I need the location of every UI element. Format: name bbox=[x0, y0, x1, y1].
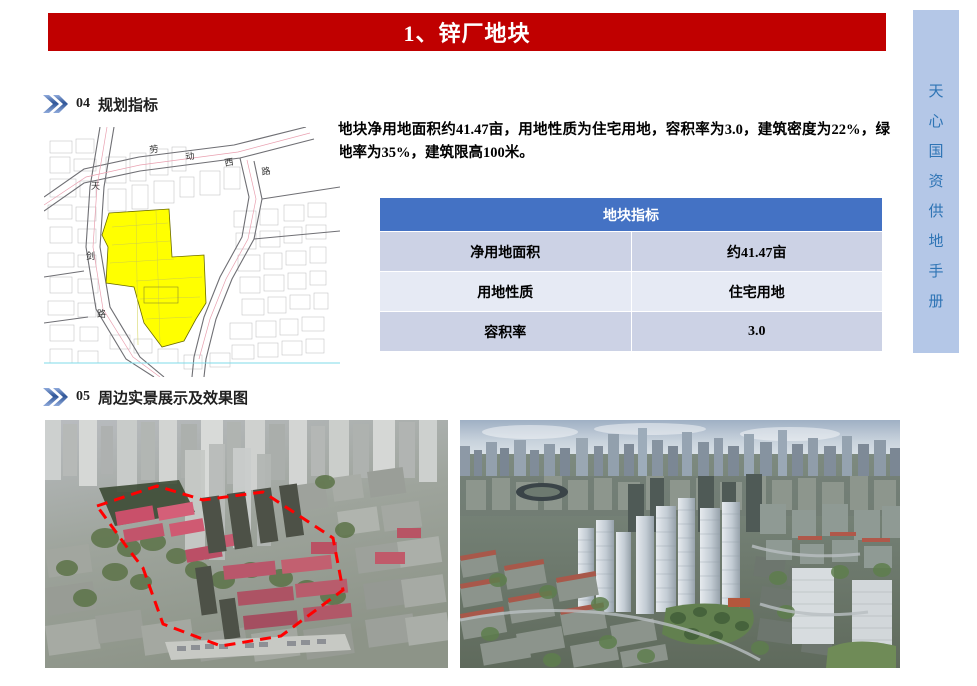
section-heading-05: 05 周边实景展示及效果图 bbox=[42, 386, 248, 408]
side-tab-char: 手 bbox=[928, 257, 943, 287]
aerial-photo-site bbox=[45, 420, 448, 668]
side-tab-char: 册 bbox=[928, 287, 943, 317]
side-tab-handbook[interactable]: 天 心 国 资 供 地 手 册 bbox=[913, 10, 959, 353]
svg-text:动: 动 bbox=[185, 151, 195, 162]
side-tab-char: 供 bbox=[928, 197, 943, 227]
table-row: 用地性质 住宅用地 bbox=[380, 272, 883, 312]
side-tab-char: 国 bbox=[928, 137, 943, 167]
table-header-row: 地块指标 bbox=[380, 198, 883, 232]
section-heading-04: 04 规划指标 bbox=[42, 93, 158, 115]
page-title-banner: 1、锌厂地块 bbox=[48, 13, 886, 51]
table-cell-label: 容积率 bbox=[380, 312, 632, 352]
pavilion-roof bbox=[728, 598, 750, 607]
double-chevron-icon bbox=[42, 93, 68, 115]
svg-text:西: 西 bbox=[224, 157, 234, 168]
svg-text:劳: 劳 bbox=[149, 143, 160, 155]
svg-text:天: 天 bbox=[91, 181, 100, 191]
svg-text:路: 路 bbox=[261, 165, 272, 177]
section-number: 05 bbox=[76, 389, 90, 405]
table-cell-value: 3.0 bbox=[631, 312, 883, 352]
table-cell-label: 净用地面积 bbox=[380, 232, 632, 272]
table-row: 容积率 3.0 bbox=[380, 312, 883, 352]
side-tab-char: 地 bbox=[928, 227, 943, 257]
section-title: 周边实景展示及效果图 bbox=[98, 387, 248, 408]
double-chevron-icon bbox=[42, 386, 68, 408]
green-space bbox=[826, 641, 896, 668]
table-row: 净用地面积 约41.47亩 bbox=[380, 232, 883, 272]
side-tab-char: 资 bbox=[928, 167, 943, 197]
page-title: 1、锌厂地块 bbox=[403, 16, 530, 48]
side-tab-char: 心 bbox=[928, 107, 943, 137]
rendering-photo-masterplan bbox=[460, 420, 900, 668]
svg-text:剑: 剑 bbox=[86, 250, 95, 261]
table-cell-label: 用地性质 bbox=[380, 272, 632, 312]
svg-text:路: 路 bbox=[97, 308, 106, 319]
parcel-description: 地块净用地面积约41.47亩，用地性质为住宅用地，容积率为3.0，建筑密度为22… bbox=[338, 119, 890, 165]
table-header-title: 地块指标 bbox=[380, 198, 883, 232]
table-cell-value: 约41.47亩 bbox=[631, 232, 883, 272]
table-cell-value: 住宅用地 bbox=[631, 272, 883, 312]
indicator-table: 地块指标 净用地面积 约41.47亩 用地性质 住宅用地 容积率 3.0 bbox=[379, 197, 883, 352]
parcel-cadastral-map: 劳 动 西 路 天 剑 路 bbox=[44, 127, 340, 377]
side-tab-char: 天 bbox=[928, 77, 943, 107]
section-number: 04 bbox=[76, 96, 90, 112]
section-title: 规划指标 bbox=[98, 94, 158, 115]
white-tower bbox=[792, 568, 834, 644]
